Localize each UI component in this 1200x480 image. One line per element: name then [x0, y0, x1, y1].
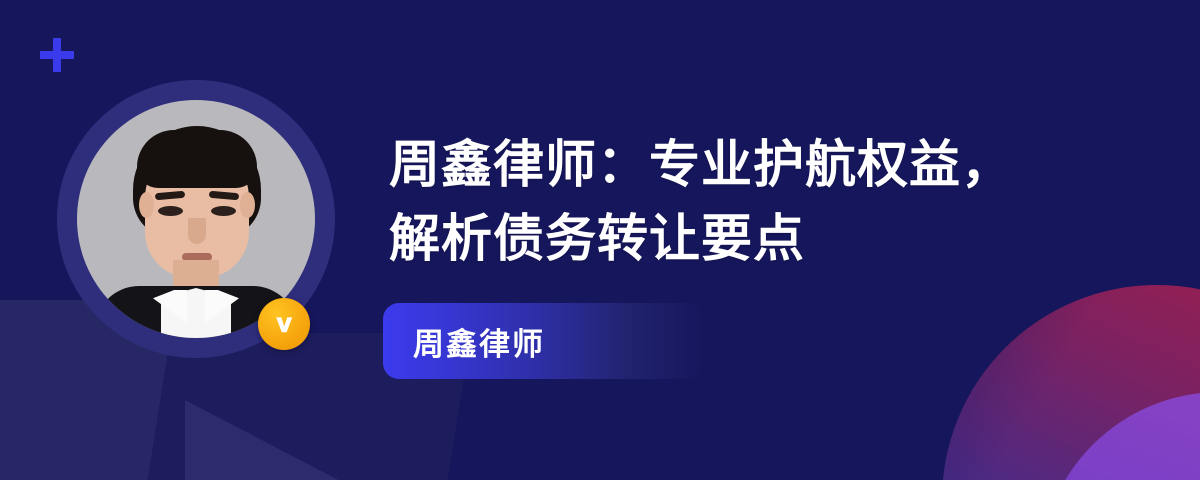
decorative-triangle	[185, 400, 415, 480]
verified-badge-icon[interactable]	[258, 298, 310, 350]
portrait-nose	[188, 218, 206, 244]
portrait-eye-left	[158, 206, 183, 216]
author-name-pill[interactable]: 周鑫律师	[383, 303, 705, 379]
portrait-fringe	[137, 130, 257, 188]
decorative-circle-inner	[1040, 392, 1200, 480]
lawyer-profile-banner: 周鑫律师：专业护航权益，解析债务转让要点 周鑫律师	[0, 0, 1200, 480]
author-name-label: 周鑫律师	[383, 319, 545, 364]
portrait-ear-left	[139, 192, 154, 218]
page-title: 周鑫律师：专业护航权益，解析债务转让要点	[389, 128, 1014, 276]
headline-block: 周鑫律师：专业护航权益，解析债务转让要点	[389, 128, 1029, 276]
decorative-circle-outer	[942, 285, 1200, 480]
portrait-eye-right	[211, 206, 236, 216]
portrait-ear-right	[240, 192, 255, 218]
plus-icon	[40, 38, 74, 72]
